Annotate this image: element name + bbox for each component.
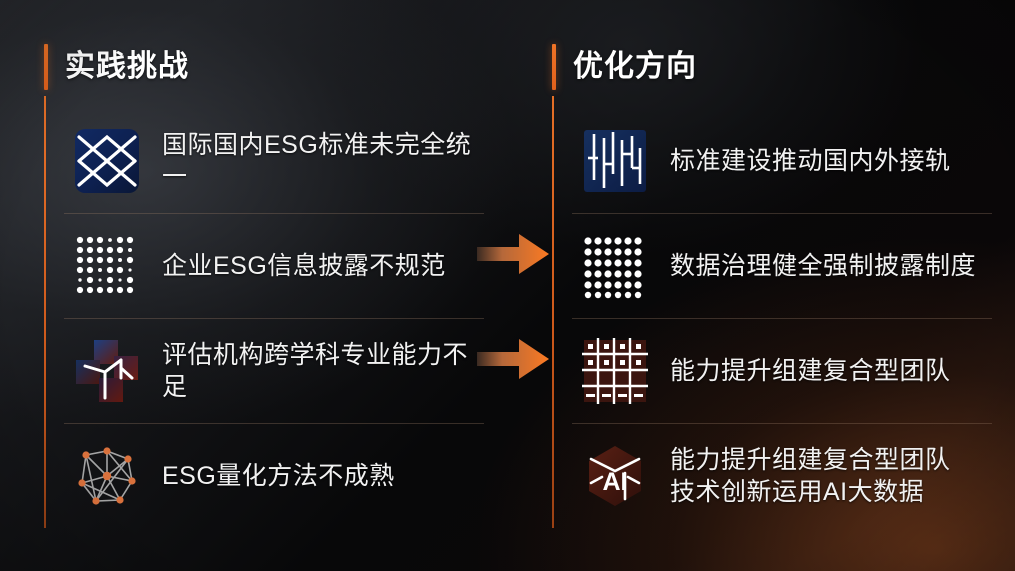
diamond-cross-icon <box>74 128 140 194</box>
list-item-label: 企业ESG信息披露不规范 <box>162 250 446 282</box>
slide-canvas: 实践挑战 <box>0 0 1015 571</box>
ai-cube-icon: AI <box>582 443 648 509</box>
accent-bar-right <box>552 44 556 90</box>
list-item[interactable]: 企业ESG信息披露不规范 <box>64 213 484 318</box>
column-challenges-title: 实践挑战 <box>65 44 189 90</box>
list-item[interactable]: AI 能力提升组建复合型团队 技术创新运用AI大数据 <box>572 423 992 528</box>
list-item[interactable]: 能力提升组建复合型团队 <box>572 318 992 423</box>
column-directions-title: 优化方向 <box>573 44 697 90</box>
svg-text:AI: AI <box>603 468 628 496</box>
list-item-label: 评估机构跨学科专业能力不足 <box>162 339 484 403</box>
list-item-label: 国际国内ESG标准未完全统一 <box>162 129 484 193</box>
challenges-list: 国际国内ESG标准未完全统一 企业ESG信 <box>64 108 484 528</box>
list-item-label: 标准建设推动国内外接轨 <box>670 145 951 177</box>
list-item[interactable]: ESG量化方法不成熟 <box>64 423 484 528</box>
list-item-label: 能力提升组建复合型团队 技术创新运用AI大数据 <box>670 444 951 508</box>
list-item-label: 数据治理健全强制披露制度 <box>670 250 976 282</box>
network-graph-icon <box>74 443 140 509</box>
accent-bar-left <box>44 44 48 90</box>
vertical-bars-icon <box>582 128 648 194</box>
grid-plot-icon <box>582 338 648 404</box>
vertical-rail-right <box>552 96 554 528</box>
molecule-node-icon <box>74 338 140 404</box>
directions-list: 标准建设推动国内外接轨 数据治理健全强制披 <box>572 108 992 528</box>
dot-matrix-icon <box>74 233 140 299</box>
list-item[interactable]: 评估机构跨学科专业能力不足 <box>64 318 484 423</box>
list-item-label: 能力提升组建复合型团队 <box>670 355 951 387</box>
list-item[interactable]: 标准建设推动国内外接轨 <box>572 108 992 213</box>
flow-arrow-2 <box>477 337 549 381</box>
list-item-label: ESG量化方法不成熟 <box>162 460 395 492</box>
column-directions-header: 优化方向 <box>552 44 697 90</box>
list-item[interactable]: 数据治理健全强制披露制度 <box>572 213 992 318</box>
list-item[interactable]: 国际国内ESG标准未完全统一 <box>64 108 484 213</box>
vertical-rail-left <box>44 96 46 528</box>
dot-grid-icon <box>582 233 648 299</box>
flow-arrow-1 <box>477 232 549 276</box>
column-challenges-header: 实践挑战 <box>44 44 189 90</box>
